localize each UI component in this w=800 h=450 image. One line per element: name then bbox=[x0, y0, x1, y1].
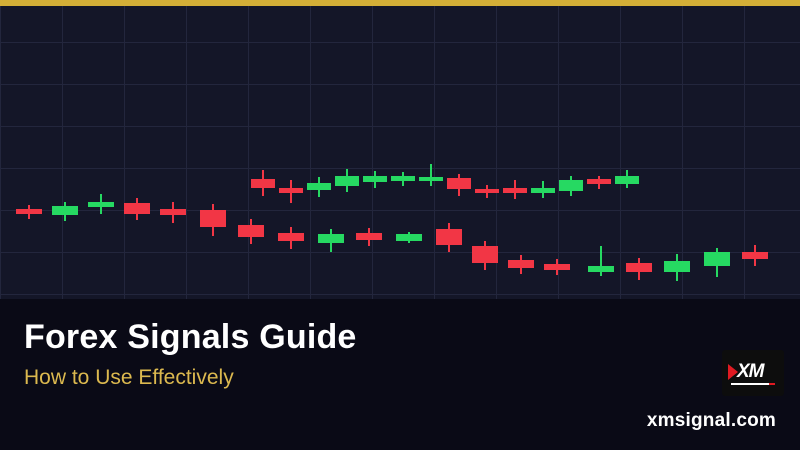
candlestick bbox=[626, 258, 652, 280]
grid-line-vertical bbox=[186, 0, 187, 299]
candle-body bbox=[503, 188, 527, 193]
candlestick bbox=[52, 202, 78, 221]
candle-body bbox=[279, 188, 303, 193]
xm-logo[interactable]: XM bbox=[722, 350, 784, 396]
candlestick bbox=[475, 185, 499, 198]
candle-body bbox=[742, 252, 768, 259]
candle-body bbox=[307, 183, 331, 190]
candle-body bbox=[626, 263, 652, 272]
candle-body bbox=[238, 225, 264, 237]
candlestick bbox=[544, 259, 570, 275]
candlestick bbox=[704, 248, 730, 277]
website-url[interactable]: xmsignal.com bbox=[647, 409, 776, 433]
candlestick bbox=[419, 164, 443, 186]
candle-body bbox=[52, 206, 78, 215]
candle-wick bbox=[430, 164, 432, 186]
candle-body bbox=[588, 266, 614, 272]
candle-body bbox=[587, 179, 611, 184]
grid-line-horizontal bbox=[0, 168, 800, 169]
candle-body bbox=[356, 233, 382, 240]
candlestick bbox=[664, 254, 690, 281]
top-accent-bar bbox=[0, 0, 800, 6]
candlestick bbox=[742, 245, 768, 266]
candlestick-chart bbox=[0, 0, 800, 299]
grid-line-vertical bbox=[620, 0, 621, 299]
candle-body bbox=[544, 264, 570, 270]
candle-body bbox=[251, 179, 275, 188]
candle-body bbox=[160, 209, 186, 215]
grid-line-vertical bbox=[310, 0, 311, 299]
candle-body bbox=[508, 260, 534, 268]
candlestick bbox=[391, 172, 415, 186]
page-subtitle: How to Use Effectively bbox=[24, 364, 357, 392]
candlestick bbox=[318, 229, 344, 252]
candle-body bbox=[475, 189, 499, 193]
candlestick bbox=[587, 176, 611, 189]
candle-body bbox=[447, 178, 471, 189]
candle-body bbox=[396, 234, 422, 241]
candle-body bbox=[472, 246, 498, 263]
candlestick bbox=[615, 170, 639, 188]
candle-body bbox=[124, 203, 150, 214]
candlestick bbox=[335, 169, 359, 192]
grid-line-horizontal bbox=[0, 84, 800, 85]
candle-body bbox=[335, 176, 359, 186]
candlestick bbox=[279, 180, 303, 203]
grid-line-horizontal bbox=[0, 42, 800, 43]
page-title: Forex Signals Guide bbox=[24, 317, 357, 357]
candlestick bbox=[251, 170, 275, 196]
candlestick bbox=[508, 255, 534, 274]
candlestick bbox=[588, 246, 614, 276]
grid-line-horizontal bbox=[0, 126, 800, 127]
candlestick bbox=[16, 205, 42, 219]
grid-line-vertical bbox=[248, 0, 249, 299]
candle-body bbox=[436, 229, 462, 245]
candlestick bbox=[124, 198, 150, 220]
candlestick bbox=[200, 204, 226, 236]
candlestick bbox=[396, 232, 422, 243]
grid-line-vertical bbox=[62, 0, 63, 299]
candle-body bbox=[318, 234, 344, 243]
candlestick bbox=[278, 227, 304, 249]
candle-body bbox=[16, 209, 42, 214]
grid-line-vertical bbox=[434, 0, 435, 299]
candle-body bbox=[531, 188, 555, 193]
candlestick bbox=[88, 194, 114, 214]
title-block: Forex Signals Guide How to Use Effective… bbox=[24, 317, 357, 392]
grid-line-horizontal bbox=[0, 294, 800, 295]
grid-line-vertical bbox=[372, 0, 373, 299]
candlestick bbox=[356, 228, 382, 246]
candle-body bbox=[664, 261, 690, 272]
candlestick bbox=[531, 181, 555, 198]
candlestick bbox=[307, 177, 331, 197]
candle-body bbox=[391, 176, 415, 181]
candlestick bbox=[559, 176, 583, 196]
forex-signals-banner: Forex Signals Guide How to Use Effective… bbox=[0, 0, 800, 450]
candle-body bbox=[200, 210, 226, 227]
grid-line-horizontal bbox=[0, 252, 800, 253]
xm-logo-underline-accent bbox=[769, 383, 775, 385]
grid-line-vertical bbox=[558, 0, 559, 299]
grid-line-horizontal bbox=[0, 210, 800, 211]
xm-logo-text: XM bbox=[737, 362, 764, 382]
grid-line-vertical bbox=[0, 0, 1, 299]
candle-body bbox=[419, 177, 443, 181]
candle-body bbox=[88, 202, 114, 207]
candlestick bbox=[436, 223, 462, 252]
candlestick bbox=[472, 241, 498, 270]
xm-logo-inner: XM bbox=[722, 350, 784, 396]
candle-body bbox=[704, 252, 730, 266]
candle-body bbox=[363, 176, 387, 182]
grid-line-vertical bbox=[124, 0, 125, 299]
candlestick bbox=[447, 174, 471, 196]
candlestick bbox=[503, 180, 527, 199]
candlestick bbox=[160, 202, 186, 223]
candlestick bbox=[238, 219, 264, 244]
candle-body bbox=[615, 176, 639, 184]
candlestick bbox=[363, 171, 387, 188]
candle-body bbox=[278, 233, 304, 241]
candle-body bbox=[559, 180, 583, 191]
